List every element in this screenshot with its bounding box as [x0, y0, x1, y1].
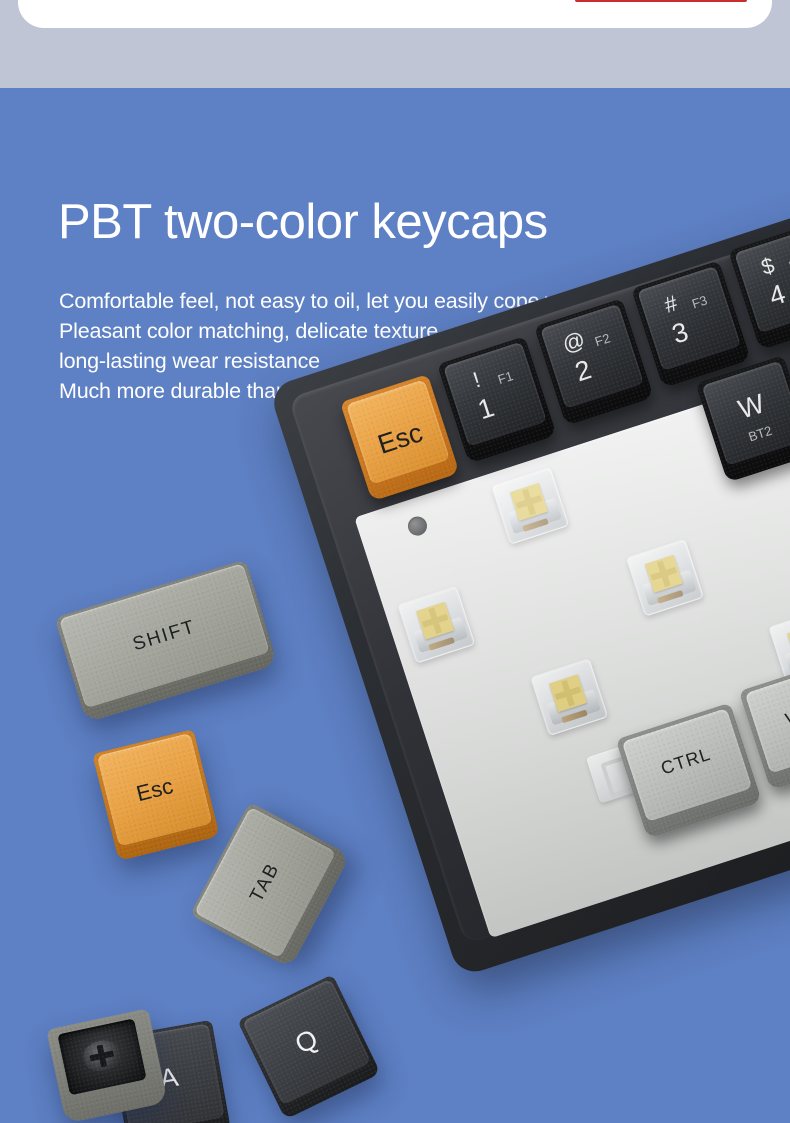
- loose-keycap-esc-label: Esc: [134, 773, 176, 807]
- top-white-card: ▰ ▰ ▰ ▰: [18, 0, 772, 28]
- bare-switch: [768, 608, 790, 686]
- keycap-top: [637, 266, 741, 371]
- loose-keycap-shift-label: SHIFT: [130, 616, 198, 656]
- keycap-face: Q: [242, 979, 371, 1106]
- switch-pin: [657, 590, 684, 604]
- loose-keycap-esc[interactable]: Esc: [92, 729, 220, 861]
- hero-panel: PBT two-color keycaps Comfortable feel, …: [0, 88, 790, 1123]
- reset-hole: [406, 514, 430, 538]
- switch-stem: [645, 555, 683, 593]
- loose-keycap-q-label: Q: [290, 1024, 322, 1061]
- keycap-underside-cavity: [57, 1018, 146, 1095]
- product-photo: Esc ! 1 F1 @ 2 F2: [0, 88, 790, 1123]
- loose-keycap-inverted[interactable]: [46, 1008, 168, 1123]
- bare-switch: [397, 585, 475, 663]
- switch-pin: [522, 518, 549, 532]
- loose-keycap-tab-label: TAB: [246, 859, 285, 906]
- keycap-face: Esc: [97, 733, 213, 846]
- loose-keycap-q[interactable]: Q: [237, 974, 380, 1119]
- product-marketing-image: ▰ ▰ ▰ ▰ PBT two-color keycaps Comfortabl…: [0, 0, 790, 1123]
- bare-switch: [491, 467, 569, 545]
- switch-stem: [510, 483, 548, 521]
- switch-stem: [549, 675, 587, 713]
- keycap-top: [443, 342, 547, 447]
- red-promo-banner-text: ▰ ▰ ▰ ▰: [685, 0, 739, 2]
- switch-pin: [561, 709, 588, 723]
- keycap-face: SHIFT: [59, 563, 270, 708]
- red-promo-banner[interactable]: ▰ ▰ ▰ ▰: [575, 0, 747, 2]
- keycap-top: [540, 304, 644, 409]
- bare-switch: [626, 539, 704, 617]
- switch-stem: [416, 602, 454, 640]
- bare-switch: [530, 658, 608, 736]
- keycap-top: [346, 379, 450, 484]
- keyboard-body: Esc ! 1 F1 @ 2 F2: [268, 166, 790, 978]
- switch-pin: [428, 637, 455, 651]
- loose-keycap-shift[interactable]: SHIFT: [54, 559, 277, 723]
- cross-stem-mount-icon: [81, 1037, 122, 1074]
